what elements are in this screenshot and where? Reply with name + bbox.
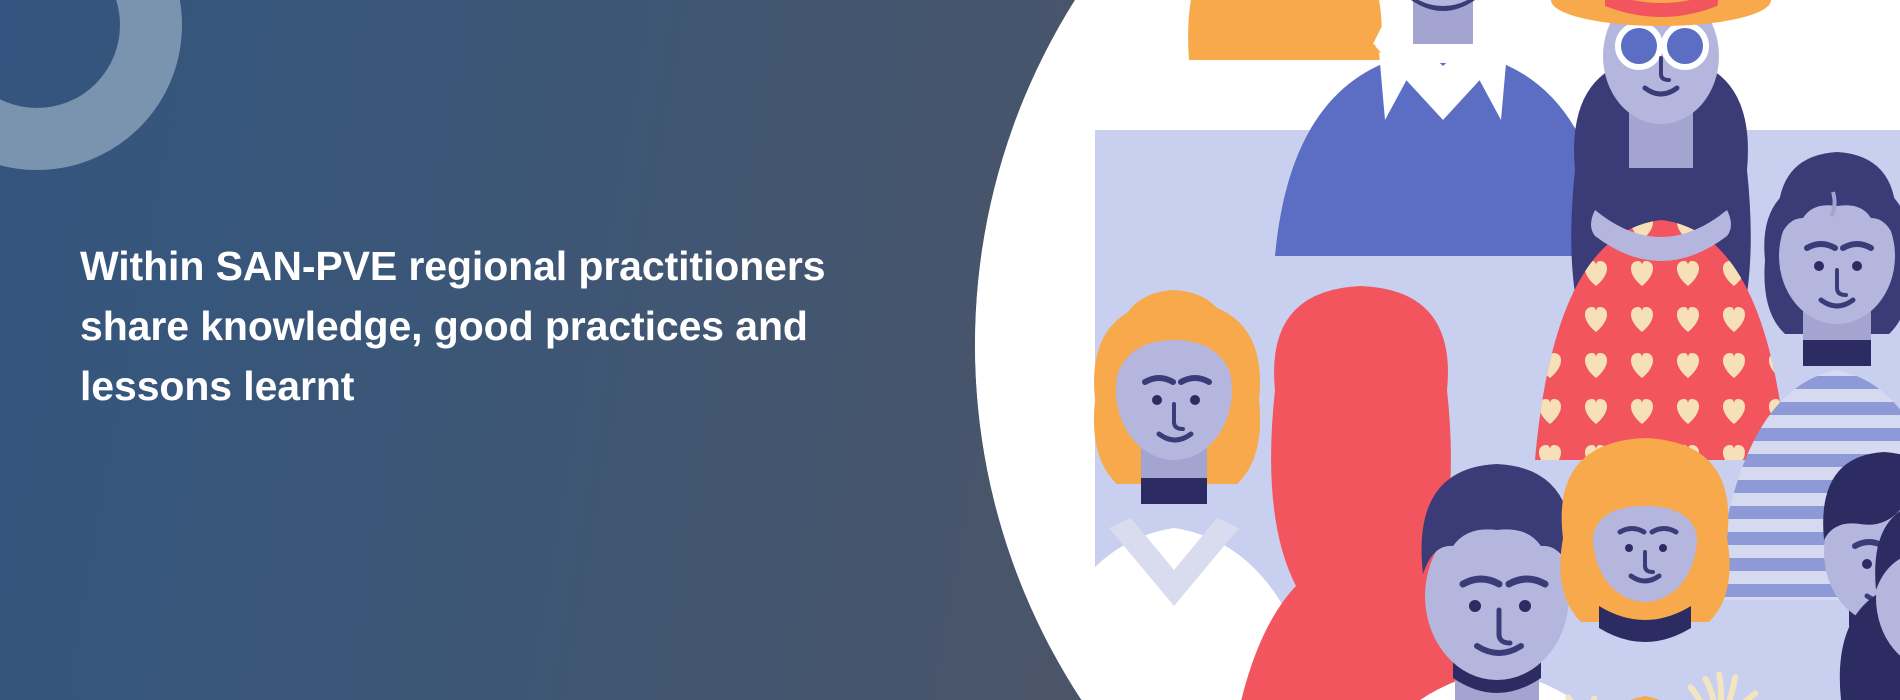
decorative-ring-shape [0,0,182,170]
diverse-crowd-illustration [975,0,1900,700]
headline-line3: lessons learnt [80,363,354,409]
headline-brand-san-pve: SAN-PVE [216,243,398,289]
headline-line2: share knowledge, good practices and [80,303,808,349]
hero-banner: Within SAN-PVE regional practitioners sh… [0,0,1900,700]
headline-line1-suffix: regional practitioners [397,243,825,289]
headline-line1-prefix: Within [80,243,216,289]
page-headline: Within SAN-PVE regional practitioners sh… [80,236,870,416]
person-back-left [1188,0,1382,60]
